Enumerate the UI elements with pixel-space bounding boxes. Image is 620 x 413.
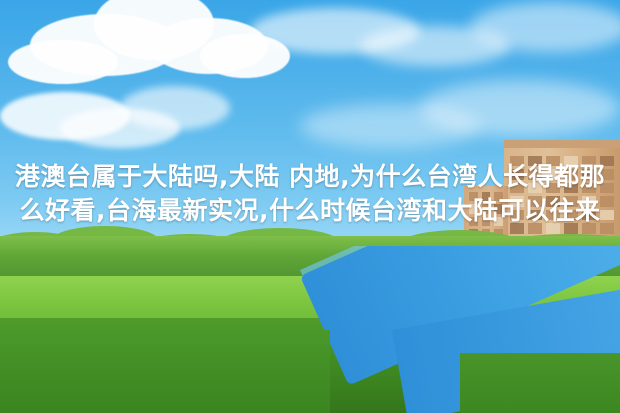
cloud-shape	[8, 40, 118, 84]
cloud-shape	[120, 86, 230, 130]
cloud-shape	[300, 104, 480, 148]
image-canvas: 港澳台属于大陆吗,大陆 内地,为什么台湾人长得都那么好看,台海最新实况,什么时候…	[0, 0, 620, 413]
caption-text: 港澳台属于大陆吗,大陆 内地,为什么台湾人长得都那么好看,台海最新实况,什么时候…	[0, 160, 620, 228]
bottom-right-grass	[460, 353, 620, 413]
cloud-shape	[470, 2, 620, 52]
left-green-wedge	[0, 330, 330, 413]
